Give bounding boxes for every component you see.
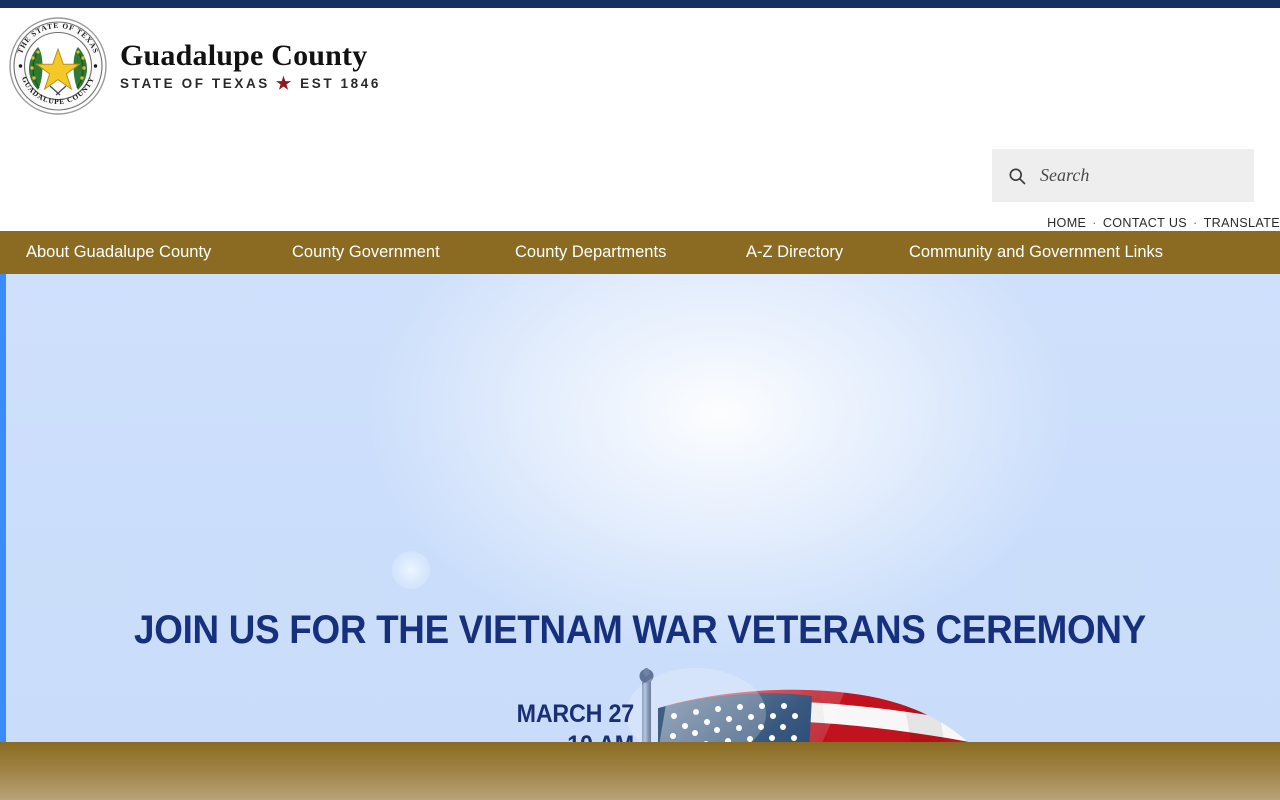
logo-title: Guadalupe County: [120, 39, 367, 72]
nav-item-about-guadalupe-county[interactable]: About Guadalupe County: [26, 244, 211, 261]
site-logo[interactable]: THE STATE OF TEXAS GUADALUPE COUNTY: [8, 16, 381, 116]
hero-event-details: MARCH 27 10 AM VETERANS OUTREACH CENTER …: [0, 699, 634, 742]
utility-links: HOME · CONTACT US · TRANSLATE: [1047, 216, 1280, 230]
utility-separator-1: ·: [1092, 216, 1097, 230]
search-icon: [1007, 166, 1027, 186]
main-navigation: About Guadalupe County County Government…: [0, 231, 1280, 274]
utility-link-contact-us[interactable]: CONTACT US: [1103, 216, 1187, 230]
nav-item-community-and-government-links[interactable]: Community and Government Links: [909, 244, 1163, 261]
lens-flare-icon: [392, 551, 430, 589]
page-root: THE STATE OF TEXAS GUADALUPE COUNTY: [0, 0, 1280, 800]
utility-separator-2: ·: [1193, 216, 1198, 230]
top-accent-bar: [0, 0, 1280, 8]
utility-link-home[interactable]: HOME: [1047, 216, 1086, 230]
footer-band: [0, 742, 1280, 800]
nav-item-a-z-directory[interactable]: A-Z Directory: [746, 244, 843, 261]
logo-wordmark: Guadalupe County STATE OF TEXAS ★ EST 18…: [120, 40, 381, 92]
logo-subtitle-left: STATE OF TEXAS: [120, 76, 270, 91]
utility-link-translate[interactable]: TRANSLATE: [1204, 216, 1280, 230]
event-time: 10 AM: [44, 730, 634, 742]
texas-state-seal-icon: THE STATE OF TEXAS GUADALUPE COUNTY: [8, 16, 108, 116]
american-flag-image: [600, 660, 1020, 742]
slider-edge-indicator[interactable]: [0, 274, 6, 742]
star-icon: ★: [276, 75, 291, 92]
search-input[interactable]: [1040, 165, 1263, 186]
event-date: MARCH 27: [44, 699, 634, 730]
site-header: THE STATE OF TEXAS GUADALUPE COUNTY: [0, 8, 1280, 206]
logo-subtitle-right: EST 1846: [300, 76, 381, 91]
hero-headline: JOIN US FOR THE VIETNAM WAR VETERANS CER…: [51, 608, 1229, 653]
logo-subtitle: STATE OF TEXAS ★ EST 1846: [120, 75, 381, 92]
hero-banner[interactable]: JOIN US FOR THE VIETNAM WAR VETERANS CER…: [0, 274, 1280, 742]
nav-item-county-departments[interactable]: County Departments: [515, 244, 666, 261]
nav-item-county-government[interactable]: County Government: [292, 244, 440, 261]
search-box[interactable]: [992, 149, 1254, 202]
